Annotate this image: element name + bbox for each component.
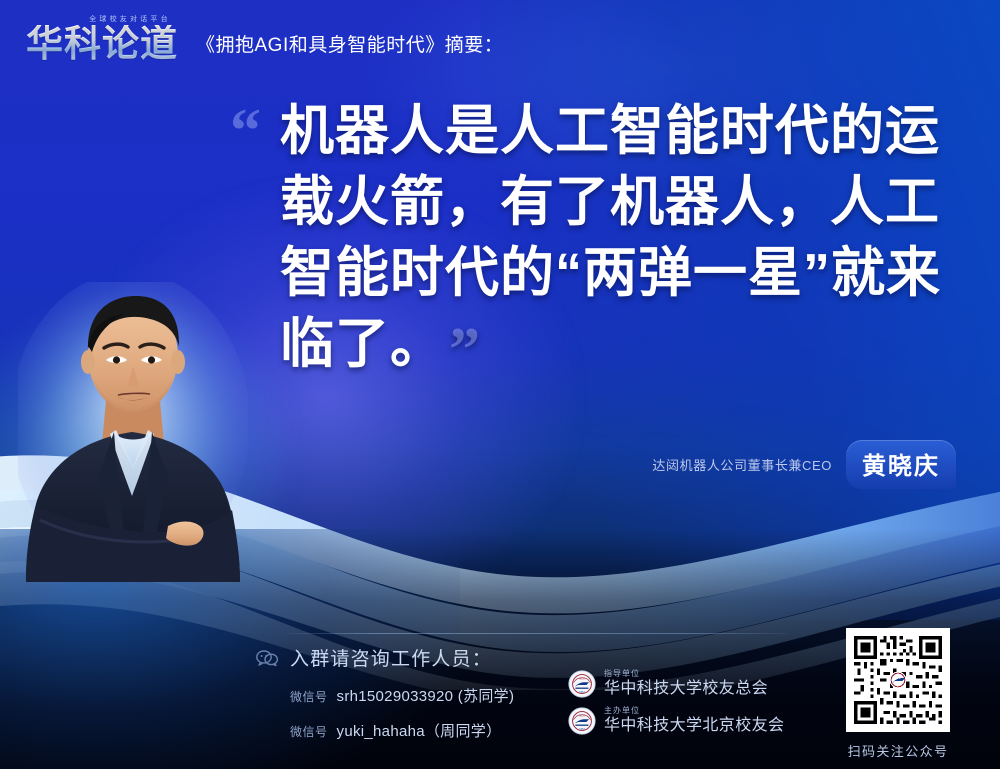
- contact-label: 微信号: [290, 688, 328, 705]
- qr-block: 扫码关注公众号: [838, 628, 958, 760]
- organizer-kind: 指导单位: [604, 670, 768, 678]
- contact-value: srh15029033920 (苏同学): [337, 685, 515, 706]
- qr-caption: 扫码关注公众号: [838, 741, 958, 760]
- university-seal-icon: HUST 1952: [568, 670, 596, 698]
- speaker-name-badge: 黄晓庆: [846, 440, 956, 489]
- university-seal-icon: HUST 1952: [568, 707, 596, 735]
- organizer-list: HUST 1952 指导单位 华中科技大学校友总会 HUST 1: [568, 670, 784, 744]
- footer-contact-block: 入群请咨询工作人员： 微信号 srh15029033920 (苏同学) 微信号 …: [256, 644, 514, 741]
- contact-row: 微信号 srh15029033920 (苏同学): [290, 685, 514, 706]
- quote-line: 临了。: [280, 314, 445, 374]
- brand-logo: 全球校友对话平台 华科论道: [26, 14, 178, 62]
- poster-header: 全球校友对话平台 华科论道 《拥抱AGI和具身智能时代》摘要：: [26, 14, 503, 62]
- organizer-text: 主办单位 华中科技大学北京校友会: [604, 707, 784, 734]
- contact-label: 微信号: [290, 723, 328, 740]
- organizer-name: 华中科技大学校友总会: [604, 681, 768, 698]
- quote-block: “ 机器人是人工智能时代的运 载火箭，有了机器人，人工 智能时代的“两弹一星”就…: [222, 96, 942, 380]
- organizer-text: 指导单位 华中科技大学校友总会: [604, 670, 768, 697]
- quote-lines: 机器人是人工智能时代的运 载火箭，有了机器人，人工 智能时代的“两弹一星”就来 …: [280, 96, 942, 380]
- organizer-item: HUST 1952 主办单位 华中科技大学北京校友会: [568, 707, 784, 735]
- poster-canvas: 全球校友对话平台 华科论道 《拥抱AGI和具身智能时代》摘要： “ 机器人是人工…: [0, 0, 1000, 769]
- contact-value: yuki_hahaha（周同学）: [337, 720, 502, 741]
- svg-text:HUST: HUST: [579, 677, 586, 680]
- quote-close-mark: ”: [449, 315, 481, 386]
- footer-heading: 入群请咨询工作人员：: [290, 644, 492, 671]
- svg-text:1952: 1952: [579, 691, 585, 694]
- svg-text:1952: 1952: [579, 728, 585, 731]
- organizer-name: 华中科技大学北京校友会: [604, 718, 784, 735]
- organizer-kind: 主办单位: [604, 707, 784, 715]
- footer-heading-row: 入群请咨询工作人员：: [256, 644, 514, 671]
- organizer-item: HUST 1952 指导单位 华中科技大学校友总会: [568, 670, 784, 698]
- brand-tagline: 全球校友对话平台: [26, 14, 178, 24]
- contact-row: 微信号 yuki_hahaha（周同学）: [290, 720, 514, 741]
- speaker-portrait: [18, 282, 248, 582]
- svg-text:HUST: HUST: [579, 714, 586, 717]
- quote-line: 机器人是人工智能时代的运: [280, 96, 942, 167]
- brand-name: 华科论道: [26, 25, 178, 62]
- page-title: 《拥抱AGI和具身智能时代》摘要：: [196, 30, 503, 62]
- quote-open-mark: “: [230, 100, 261, 162]
- quote-line: 载火箭，有了机器人，人工: [280, 167, 942, 238]
- attribution: 达闼机器人公司董事长兼CEO 黄晓庆: [652, 440, 956, 489]
- qr-code-icon[interactable]: [846, 628, 950, 732]
- footer-divider: [288, 633, 788, 634]
- wechat-icon: [256, 650, 278, 666]
- quote-line: 智能时代的“两弹一星”就来: [280, 238, 942, 309]
- speaker-role: 达闼机器人公司董事长兼CEO: [652, 455, 832, 474]
